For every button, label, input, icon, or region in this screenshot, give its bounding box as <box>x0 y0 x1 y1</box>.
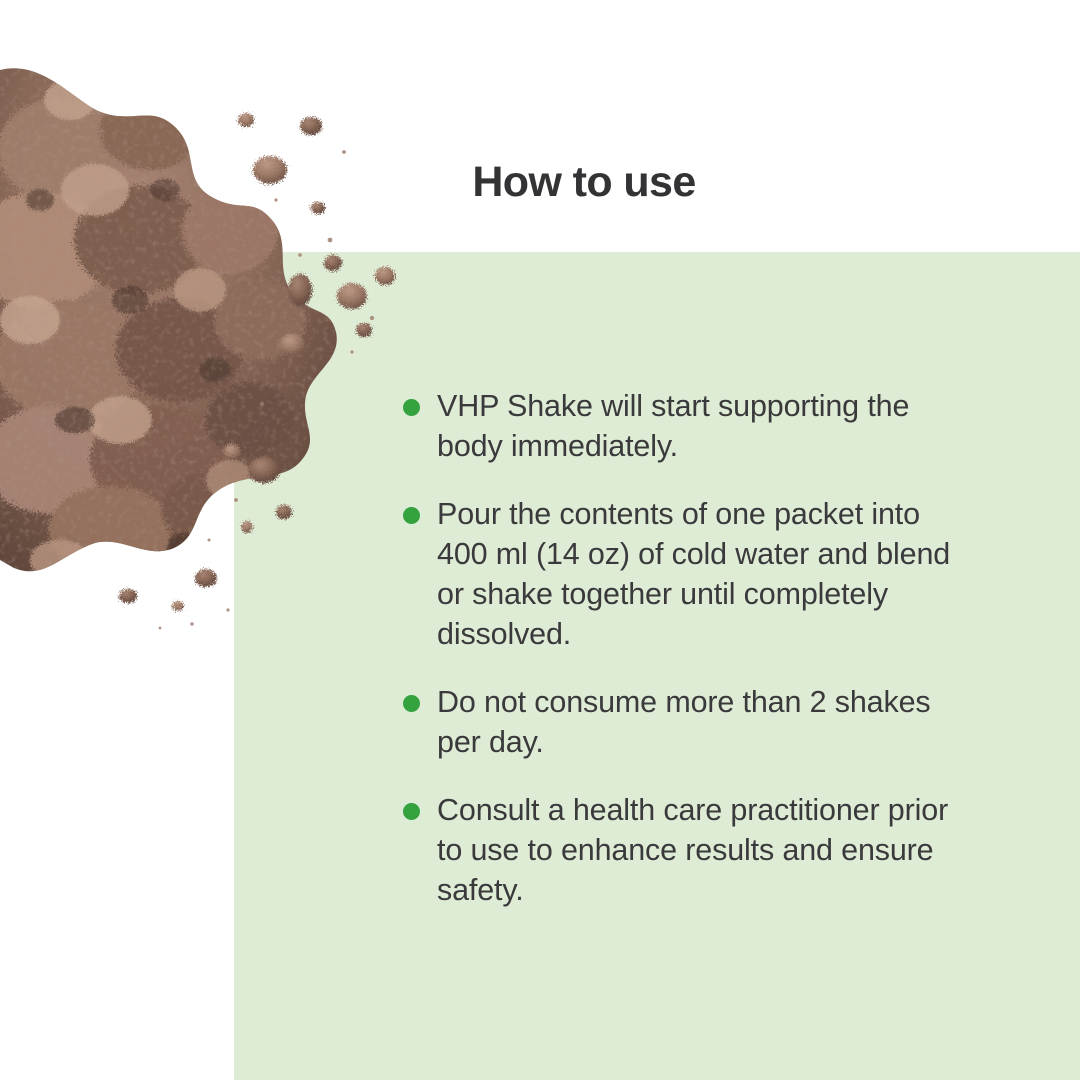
list-item: Consult a health care practitioner prior… <box>398 790 978 910</box>
page-title: How to use <box>234 156 934 208</box>
list-item: VHP Shake will start supporting the body… <box>398 386 978 466</box>
list-item-text: Do not consume more than 2 shakes per da… <box>437 682 978 762</box>
bullet-dot-icon <box>403 507 420 524</box>
bullet-dot-icon <box>403 695 420 712</box>
instructions-list: VHP Shake will start supporting the body… <box>398 386 978 910</box>
list-item: Pour the contents of one packet into 400… <box>398 494 978 654</box>
list-item: Do not consume more than 2 shakes per da… <box>398 682 978 762</box>
list-item-text: Pour the contents of one packet into 400… <box>437 494 978 654</box>
list-item-text: VHP Shake will start supporting the body… <box>437 386 978 466</box>
list-item-text: Consult a health care practitioner prior… <box>437 790 978 910</box>
bullet-dot-icon <box>403 803 420 820</box>
bullet-dot-icon <box>403 399 420 416</box>
product-info-card: How to use VHP Shake will start supporti… <box>0 0 1080 1080</box>
